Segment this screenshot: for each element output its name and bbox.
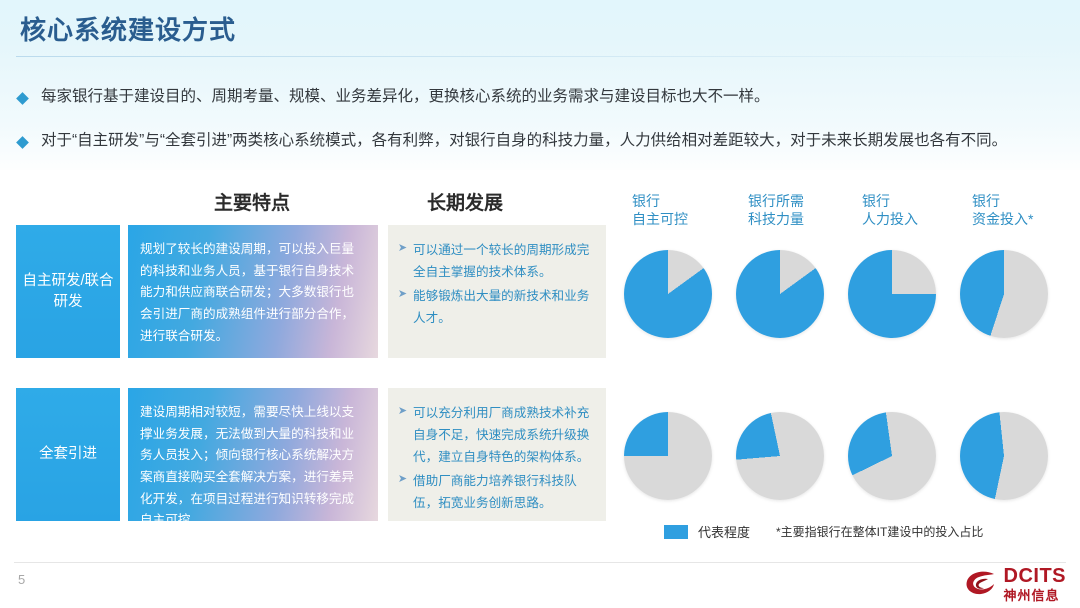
- pie-chart: [848, 250, 936, 338]
- pie-chart: [736, 412, 824, 500]
- pie-heading-line: 科技力量: [748, 210, 804, 228]
- title-divider: [16, 56, 1064, 57]
- list-item: ➤ 可以通过一个较长的周期形成完全自主掌握的技术体系。: [396, 239, 596, 283]
- pie-column-heading-techpower: 银行所需 科技力量: [748, 192, 804, 229]
- logo-subtitle: 神州信息: [1004, 589, 1067, 602]
- column-heading-features: 主要特点: [214, 188, 290, 215]
- legend: 代表程度: [664, 522, 750, 541]
- column-heading-longterm: 长期发展: [427, 188, 503, 215]
- logo-name: DCITS: [1004, 566, 1067, 586]
- legend-label: 代表程度: [698, 522, 750, 541]
- legend-footnote: *主要指银行在整体IT建设中的投入占比: [776, 523, 983, 540]
- footer-divider: [14, 562, 1066, 563]
- pie-heading-line: 资金投入*: [972, 210, 1033, 228]
- pie-heading-line: 银行: [972, 192, 1033, 210]
- bullet-text: 对于“自主研发”与“全套引进”两类核心系统模式，各有利弊，对银行自身的科技力量，…: [41, 131, 1007, 152]
- list-item-text: 借助厂商能力培养银行科技队伍，拓宽业务创新思路。: [413, 470, 596, 514]
- pie-heading-line: 银行所需: [748, 192, 804, 210]
- slide-canvas: 核心系统建设方式 每家银行基于建设目的、周期考量、规模、业务差异化，更换核心系统…: [0, 0, 1080, 608]
- arrow-right-icon: ➤: [396, 285, 409, 304]
- arrow-right-icon: ➤: [396, 402, 409, 421]
- row-label-self-developed: 自主研发/联合研发: [16, 225, 120, 358]
- row-label-full-purchase: 全套引进: [16, 388, 120, 521]
- pie-column-heading-funding: 银行 资金投入*: [972, 192, 1033, 229]
- diamond-bullet-icon: [16, 92, 29, 105]
- pie-chart: [624, 412, 712, 500]
- pie-column-heading-autonomy: 银行 自主可控: [632, 192, 688, 229]
- list-item-text: 能够锻炼出大量的新技术和业务人才。: [413, 285, 596, 329]
- legend-swatch: [664, 525, 688, 539]
- arrow-right-icon: ➤: [396, 470, 409, 489]
- bullet-item: 对于“自主研发”与“全套引进”两类核心系统模式，各有利弊，对银行自身的科技力量，…: [18, 131, 1007, 152]
- row-description-self-developed: 规划了较长的建设周期，可以投入巨量的科技和业务人员，基于银行自身技术能力和供应商…: [128, 225, 378, 358]
- pie-heading-line: 人力投入: [862, 210, 918, 228]
- pie-heading-line: 银行: [632, 192, 688, 210]
- pie-chart: [848, 412, 936, 500]
- brand-logo: DCITS 神州信息: [964, 566, 1067, 602]
- body-background: [0, 62, 1080, 170]
- pie-heading-line: 自主可控: [632, 210, 688, 228]
- diamond-bullet-icon: [16, 136, 29, 149]
- pie-chart: [960, 412, 1048, 500]
- pie-chart: [736, 250, 824, 338]
- list-item-text: 可以通过一个较长的周期形成完全自主掌握的技术体系。: [413, 239, 596, 283]
- list-item: ➤ 能够锻炼出大量的新技术和业务人才。: [396, 285, 596, 329]
- pie-chart: [624, 250, 712, 338]
- bullet-text: 每家银行基于建设目的、周期考量、规模、业务差异化，更换核心系统的业务需求与建设目…: [41, 87, 770, 108]
- pie-column-heading-manpower: 银行 人力投入: [862, 192, 918, 229]
- pie-chart: [960, 250, 1048, 338]
- pie-heading-line: 银行: [862, 192, 918, 210]
- row-longterm-full-purchase: ➤ 可以充分利用厂商成熟技术补充自身不足，快速完成系统升级换代，建立自身特色的架…: [388, 388, 606, 521]
- page-title: 核心系统建设方式: [20, 10, 236, 47]
- row-longterm-self-developed: ➤ 可以通过一个较长的周期形成完全自主掌握的技术体系。 ➤ 能够锻炼出大量的新技…: [388, 225, 606, 358]
- list-item: ➤ 可以充分利用厂商成熟技术补充自身不足，快速完成系统升级换代，建立自身特色的架…: [396, 402, 596, 468]
- dcits-swirl-icon: [964, 569, 998, 599]
- arrow-right-icon: ➤: [396, 239, 409, 258]
- list-item: ➤ 借助厂商能力培养银行科技队伍，拓宽业务创新思路。: [396, 470, 596, 514]
- list-item-text: 可以充分利用厂商成熟技术补充自身不足，快速完成系统升级换代，建立自身特色的架构体…: [413, 402, 596, 468]
- row-description-full-purchase: 建设周期相对较短，需要尽快上线以支撑业务发展，无法做到大量的科技和业务人员投入；…: [128, 388, 378, 521]
- logo-text: DCITS 神州信息: [1004, 566, 1067, 602]
- bullet-item: 每家银行基于建设目的、周期考量、规模、业务差异化，更换核心系统的业务需求与建设目…: [18, 87, 770, 108]
- page-number: 5: [18, 572, 25, 587]
